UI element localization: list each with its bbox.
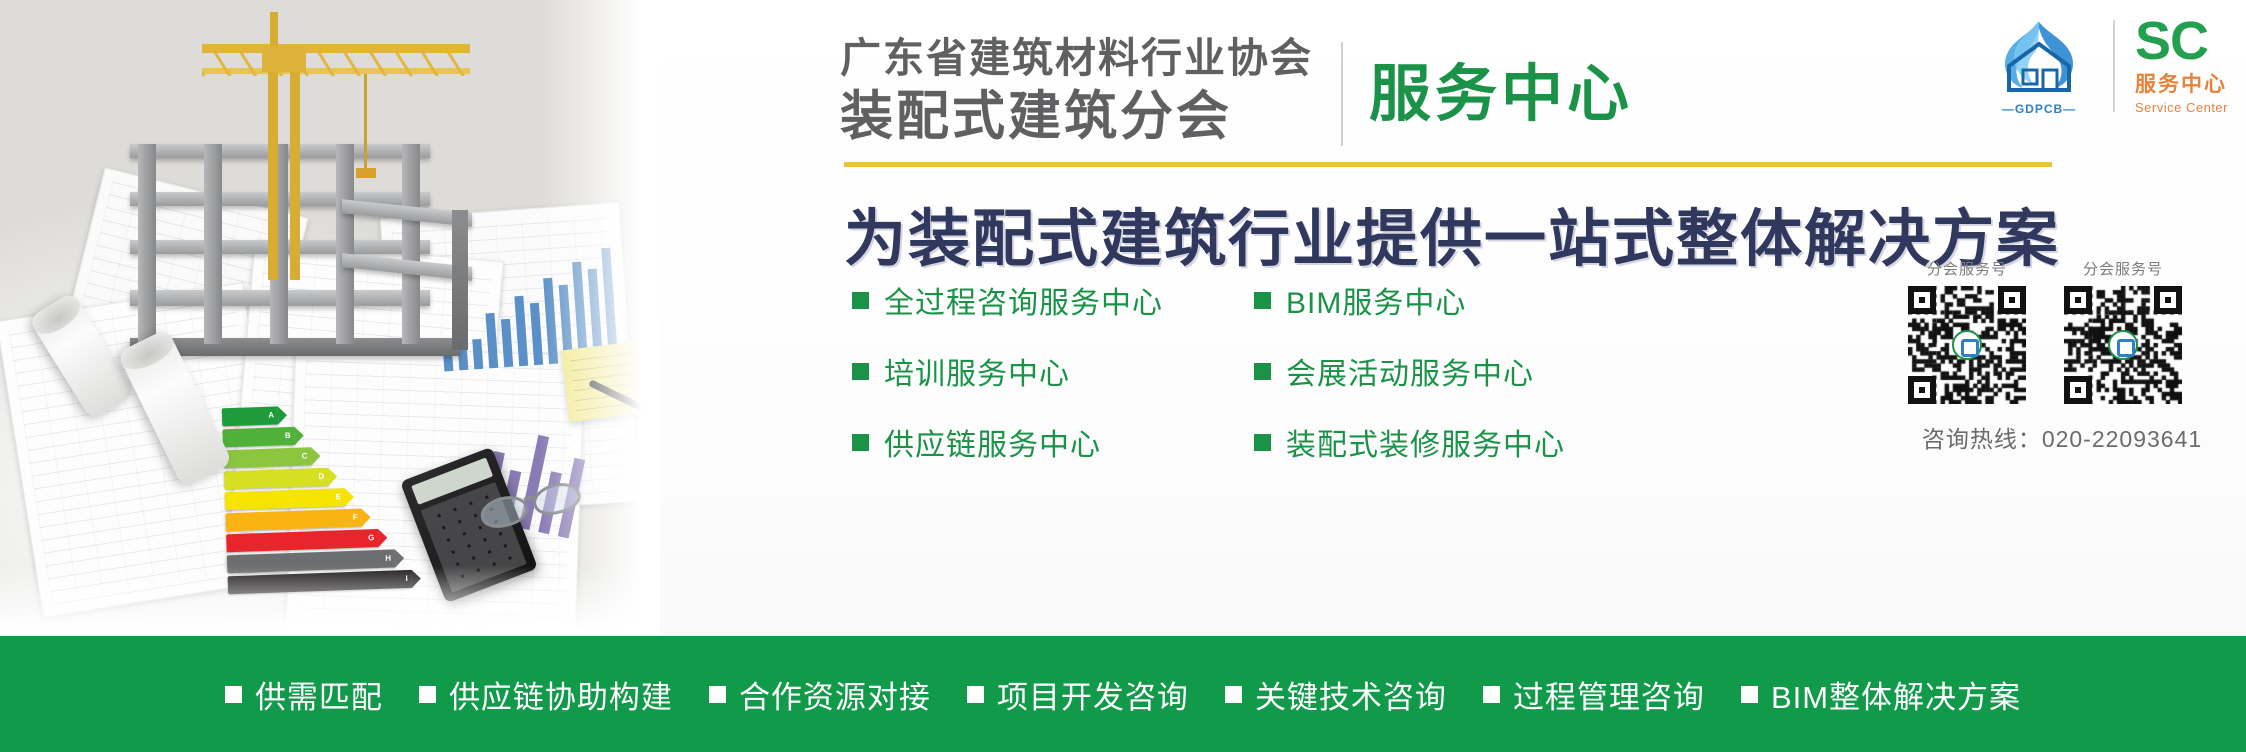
logo-lockup: —GDPCB— SC 服务中心 Service Center xyxy=(1985,16,2228,116)
footer-items: 供需匹配 供应链协助构建 合作资源对接 项目开发咨询 关键技术咨询 过程管理咨询 xyxy=(225,672,2021,717)
organization-title-block: 广东省建筑材料行业协会 装配式建筑分会 服务中心 xyxy=(840,38,1633,146)
footer-tag-label: 合作资源对接 xyxy=(739,672,931,717)
energy-rating-band: G xyxy=(226,529,379,552)
construction-blueprints-photo: ABCDEFGHI xyxy=(0,0,660,636)
tower-crane-icon xyxy=(150,10,480,280)
org-line-2: 装配式建筑分会 xyxy=(840,90,1313,143)
footer-tag[interactable]: 关键技术咨询 xyxy=(1225,672,1447,717)
qr-finder-icon xyxy=(1908,376,1936,404)
square-bullet-icon xyxy=(709,686,726,703)
qr-caption: 分会服务号 xyxy=(1902,258,2032,279)
photo-fade-right xyxy=(540,0,660,636)
energy-rating-band: F xyxy=(225,509,362,532)
service-label: 会展活动服务中心 xyxy=(1286,349,1534,393)
square-bullet-icon xyxy=(967,686,984,703)
qr-finder-icon xyxy=(1998,286,2026,314)
chart-bar xyxy=(501,319,513,368)
sc-english-label: Service Center xyxy=(2135,100,2228,115)
square-bullet-icon xyxy=(852,363,869,380)
square-bullet-icon xyxy=(1254,434,1271,451)
gold-divider-rule xyxy=(844,162,2052,167)
qr-finder-icon xyxy=(2064,286,2092,314)
footer-tag[interactable]: 项目开发咨询 xyxy=(967,672,1189,717)
footer-tag-label: 供应链协助构建 xyxy=(449,672,673,717)
service-label: 装配式装修服务中心 xyxy=(1286,420,1565,464)
square-bullet-icon xyxy=(1254,363,1271,380)
list-item[interactable]: BIM服务中心 xyxy=(1254,278,1565,322)
footer-tag-label: 过程管理咨询 xyxy=(1513,672,1705,717)
photo-fade-bottom xyxy=(0,566,660,636)
content-column: 广东省建筑材料行业协会 装配式建筑分会 服务中心 为装配式建筑行业提供一站式整体… xyxy=(660,0,2246,636)
logo-mark-label: —GDPCB— xyxy=(1985,102,2093,116)
footer-tag[interactable]: 合作资源对接 xyxy=(709,672,931,717)
gdpcb-house-flame-icon: —GDPCB— xyxy=(1985,16,2093,116)
qr-caption: 分会服务号 xyxy=(2058,258,2188,279)
service-tags-footer: 供需匹配 供应链协助构建 合作资源对接 项目开发咨询 关键技术咨询 过程管理咨询 xyxy=(0,636,2246,752)
org-line-1: 广东省建筑材料行业协会 xyxy=(840,38,1313,79)
sc-chinese-label: 服务中心 xyxy=(2135,68,2228,98)
square-bullet-icon xyxy=(1254,292,1271,309)
service-center-title: 服务中心 xyxy=(1369,64,1633,126)
square-bullet-icon xyxy=(1741,686,1758,703)
qr-cell: 分会服务号 xyxy=(2058,258,2188,404)
list-item[interactable]: 供应链服务中心 xyxy=(852,420,1163,464)
footer-tag-label: BIM整体解决方案 xyxy=(1771,672,2021,717)
list-item[interactable]: 全过程咨询服务中心 xyxy=(852,278,1163,322)
page-title: 为装配式建筑行业提供一站式整体解决方案 xyxy=(844,188,2060,278)
hotline-text: 咨询热线：020-22093641 xyxy=(1902,420,2222,454)
footer-tag-label: 项目开发咨询 xyxy=(997,672,1189,717)
service-label: 全过程咨询服务中心 xyxy=(884,278,1163,322)
footer-tag[interactable]: 供应链协助构建 xyxy=(419,672,673,717)
qr-finder-icon xyxy=(2154,286,2182,314)
organization-names: 广东省建筑材料行业协会 装配式建筑分会 xyxy=(840,38,1313,143)
title-divider xyxy=(1341,42,1343,146)
qr-center-logo-icon xyxy=(2108,330,2138,360)
list-item[interactable]: 培训服务中心 xyxy=(852,349,1163,393)
qr-finder-icon xyxy=(2064,376,2092,404)
promo-banner: ABCDEFGHI 广东省建筑材料行业协会 装配式建筑分会 服务中心 为装配式建… xyxy=(0,0,2246,752)
sc-initials: SC xyxy=(2135,17,2228,67)
footer-tag-label: 关键技术咨询 xyxy=(1255,672,1447,717)
service-label: BIM服务中心 xyxy=(1286,278,1466,322)
footer-tag-label: 供需匹配 xyxy=(255,672,383,717)
chart-bar xyxy=(514,296,528,366)
qr-center-logo-icon xyxy=(1952,330,1982,360)
energy-rating-band: D xyxy=(224,468,329,490)
service-label: 培训服务中心 xyxy=(884,349,1070,393)
list-item[interactable]: 会展活动服务中心 xyxy=(1254,349,1565,393)
footer-tag[interactable]: 供需匹配 xyxy=(225,672,383,717)
qr-contact-block: 分会服务号 分会服务号 xyxy=(1902,258,2222,454)
qr-finder-icon xyxy=(1908,286,1936,314)
qr-cell: 分会服务号 xyxy=(1902,258,2032,404)
square-bullet-icon xyxy=(852,434,869,451)
list-item[interactable]: 装配式装修服务中心 xyxy=(1254,420,1565,464)
square-bullet-icon xyxy=(1225,686,1242,703)
qr-row: 分会服务号 分会服务号 xyxy=(1902,258,2222,404)
sc-wordmark: SC 服务中心 Service Center xyxy=(2135,17,2228,115)
service-list-right: BIM服务中心 会展活动服务中心 装配式装修服务中心 xyxy=(1254,278,1565,491)
energy-rating-band: A xyxy=(222,406,279,426)
square-bullet-icon xyxy=(852,292,869,309)
qr-code-icon[interactable] xyxy=(1908,286,2026,404)
logo-divider xyxy=(2113,20,2115,112)
gdpcb-mark-svg xyxy=(1985,18,2093,92)
energy-rating-band: C xyxy=(223,447,312,468)
square-bullet-icon xyxy=(419,686,436,703)
square-bullet-icon xyxy=(1483,686,1500,703)
qr-code-icon[interactable] xyxy=(2064,286,2182,404)
service-list-left: 全过程咨询服务中心 培训服务中心 供应链服务中心 xyxy=(852,278,1163,491)
footer-tag[interactable]: 过程管理咨询 xyxy=(1483,672,1705,717)
square-bullet-icon xyxy=(225,686,242,703)
footer-tag[interactable]: BIM整体解决方案 xyxy=(1741,672,2021,717)
energy-rating-band: B xyxy=(222,427,295,448)
energy-rating-band: E xyxy=(225,488,346,510)
service-label: 供应链服务中心 xyxy=(884,420,1101,464)
